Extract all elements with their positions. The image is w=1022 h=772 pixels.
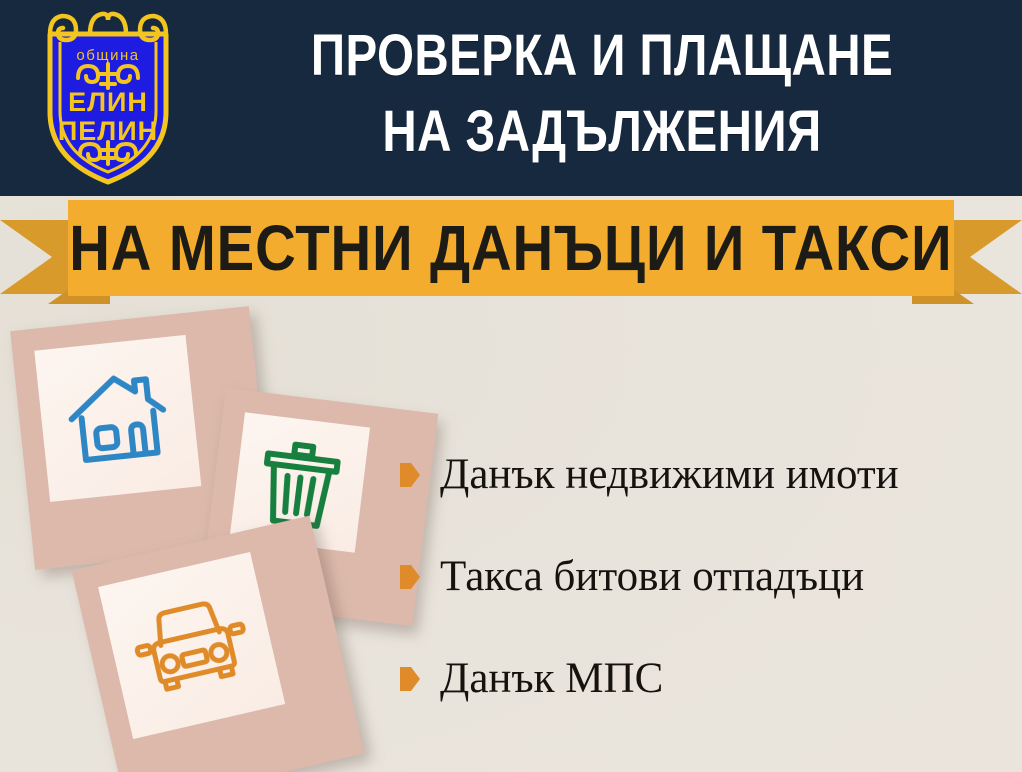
list-item-label: Данък МПС	[440, 655, 663, 703]
page-title-line-1: ПРОВЕРКА И ПЛАЩАНЕ	[269, 18, 935, 94]
crest-top-word: община	[76, 47, 139, 64]
page-title-line-2: НА ЗАДЪЛЖЕНИЯ	[269, 94, 935, 170]
subtitle-ribbon: НА МЕСТНИ ДАНЪЦИ И ТАКСИ	[0, 196, 1022, 306]
ribbon-text: НА МЕСТНИ ДАНЪЦИ И ТАКСИ	[69, 216, 952, 280]
list-item[interactable]: Такса битови отпадъци	[400, 526, 1010, 628]
ribbon-banner: НА МЕСТНИ ДАНЪЦИ И ТАКСИ	[68, 200, 954, 296]
poster-root: община ЕЛИН ПЕЛИН	[0, 0, 1022, 772]
tax-type-list: Данък недвижими имоти Такса битови отпад…	[400, 424, 1010, 730]
arrow-bullet-icon	[400, 667, 420, 691]
page-title: ПРОВЕРКА И ПЛАЩАНЕ НА ЗАДЪЛЖЕНИЯ	[269, 18, 935, 170]
house-icon	[61, 365, 174, 471]
list-item[interactable]: Данък недвижими имоти	[400, 424, 1010, 526]
stamp-paper	[34, 335, 201, 502]
list-item[interactable]: Данък МПС	[400, 628, 1010, 730]
crest-name-line1: ЕЛИН	[68, 87, 148, 117]
arrow-bullet-icon	[400, 463, 420, 487]
municipality-crest-logo: община ЕЛИН ПЕЛИН	[28, 8, 188, 188]
arrow-bullet-icon	[400, 565, 420, 589]
car-front-icon	[125, 591, 257, 701]
list-item-label: Такса битови отпадъци	[440, 553, 864, 601]
list-item-label: Данък недвижими имоти	[440, 451, 899, 499]
header-bar: община ЕЛИН ПЕЛИН	[0, 0, 1022, 196]
